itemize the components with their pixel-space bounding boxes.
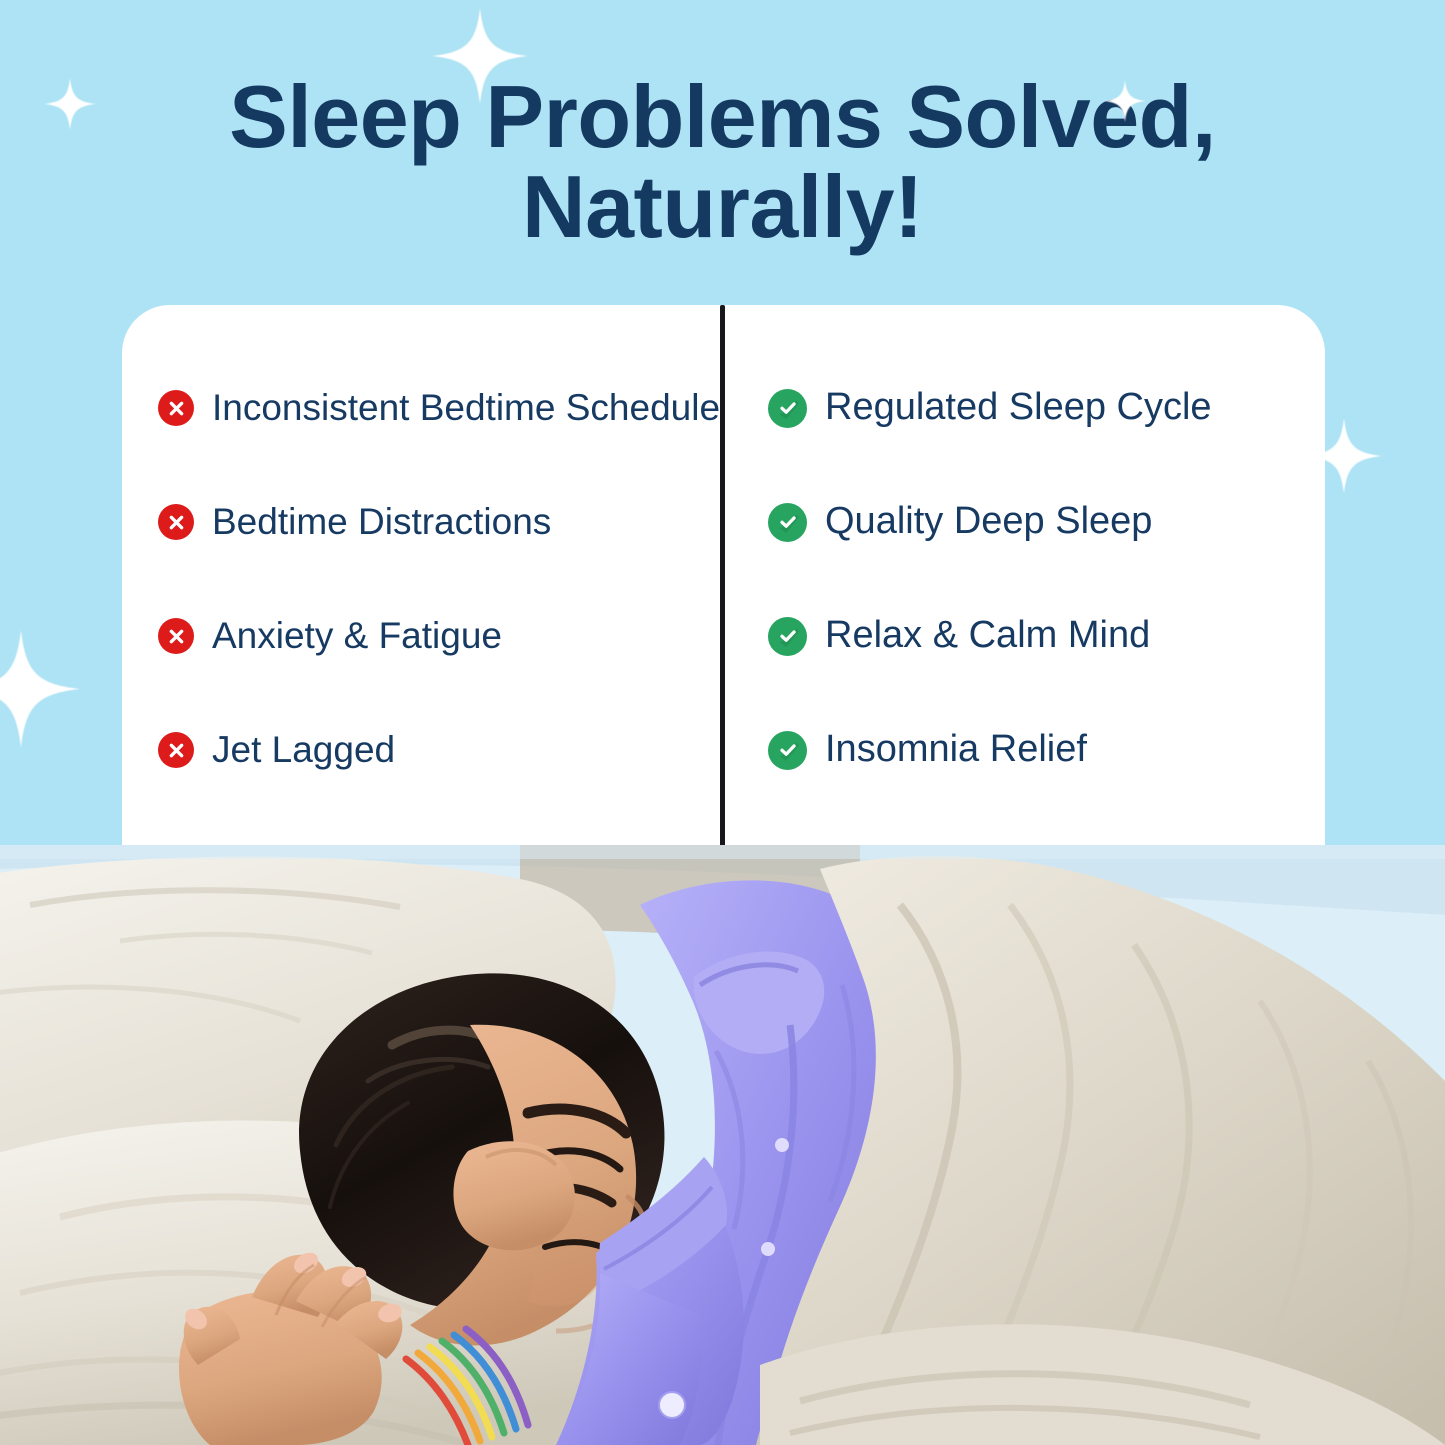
- list-item: Jet Lagged: [158, 693, 720, 807]
- list-item-label: Jet Lagged: [212, 730, 395, 771]
- list-item-label: Anxiety & Fatigue: [212, 616, 502, 657]
- sparkle-mid-left-icon: [0, 630, 80, 748]
- benefits-column: Regulated Sleep Cycle Quality Deep Sleep: [720, 305, 1325, 895]
- circle-check-icon: [768, 503, 807, 542]
- headline-line-1: Sleep Problems Solved,: [0, 72, 1445, 162]
- circle-check-icon: [768, 389, 807, 428]
- circle-check-icon: [768, 617, 807, 656]
- list-item: Anxiety & Fatigue: [158, 579, 720, 693]
- list-item-label: Regulated Sleep Cycle: [825, 387, 1212, 429]
- page-title: Sleep Problems Solved, Naturally!: [0, 72, 1445, 252]
- list-item-label: Quality Deep Sleep: [825, 501, 1152, 543]
- list-item-label: Inconsistent Bedtime Schedule: [212, 388, 720, 429]
- sleeping-woman-photo: [0, 845, 1445, 1445]
- circle-x-icon: [158, 504, 194, 540]
- list-item-label: Insomnia Relief: [825, 729, 1087, 771]
- list-item: Bedtime Distractions: [158, 465, 720, 579]
- list-item-label: Relax & Calm Mind: [825, 615, 1150, 657]
- poster-canvas: Sleep Problems Solved, Naturally! Incons…: [0, 0, 1445, 1445]
- list-item: Regulated Sleep Cycle: [768, 351, 1325, 465]
- list-item: Relax & Calm Mind: [768, 579, 1325, 693]
- comparison-card: Inconsistent Bedtime Schedule Bedtime Di…: [122, 305, 1325, 895]
- circle-x-icon: [158, 390, 194, 426]
- circle-check-icon: [768, 731, 807, 770]
- column-divider: [720, 305, 725, 895]
- circle-x-icon: [158, 732, 194, 768]
- circle-x-icon: [158, 618, 194, 654]
- list-item: Quality Deep Sleep: [768, 465, 1325, 579]
- list-item: Insomnia Relief: [768, 693, 1325, 807]
- headline-line-2: Naturally!: [0, 162, 1445, 252]
- list-item: Inconsistent Bedtime Schedule: [158, 351, 720, 465]
- problems-column: Inconsistent Bedtime Schedule Bedtime Di…: [122, 305, 720, 895]
- list-item-label: Bedtime Distractions: [212, 502, 551, 543]
